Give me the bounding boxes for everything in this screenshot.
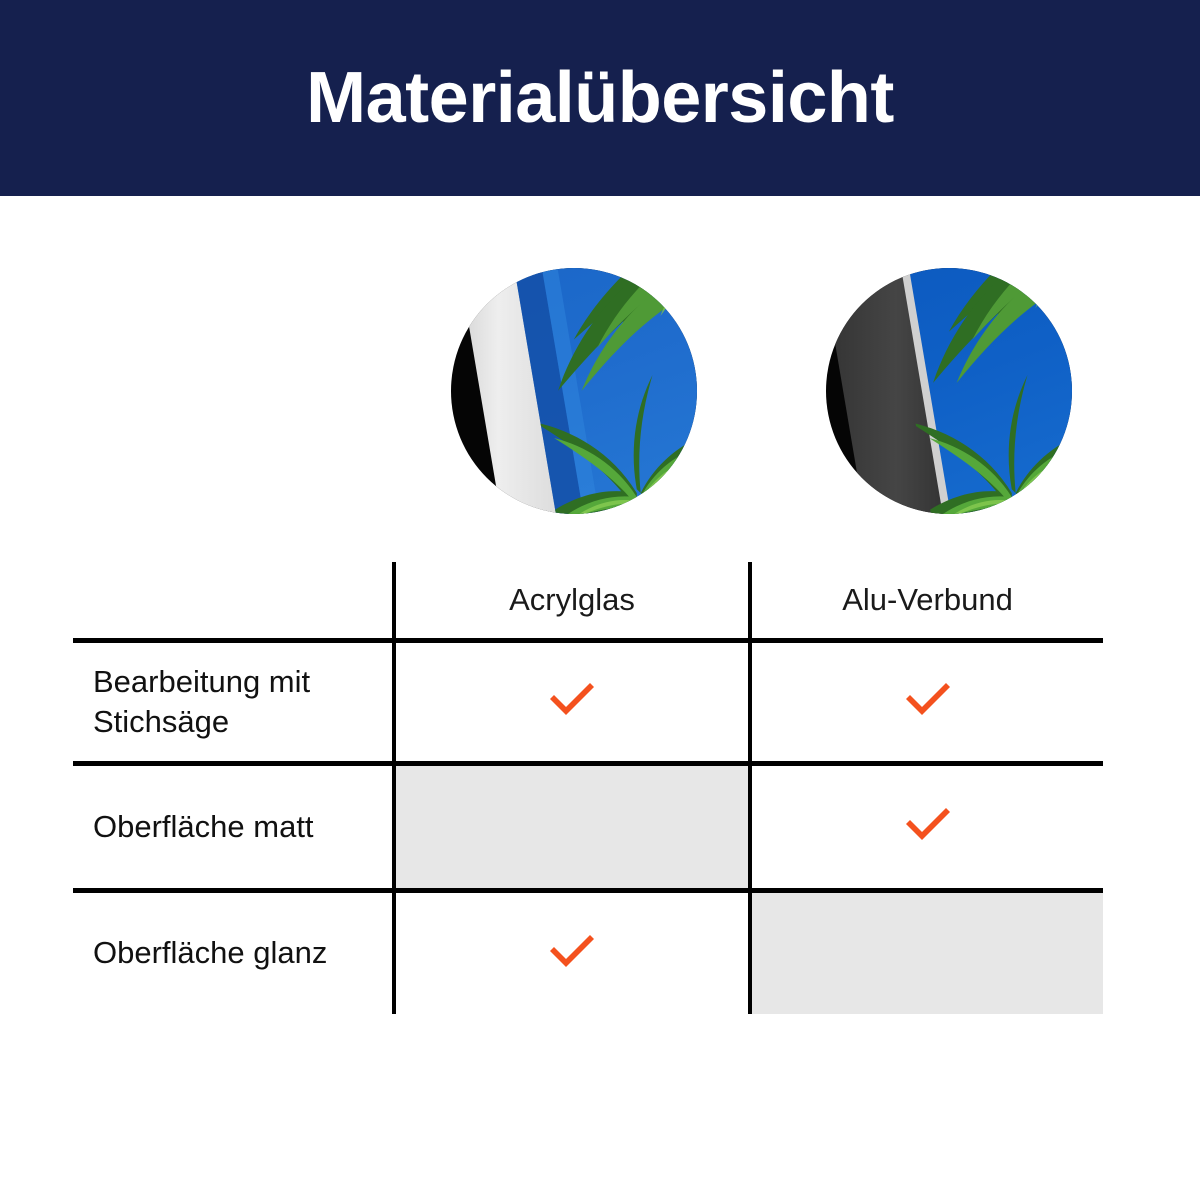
page-title: Materialübersicht [306,62,894,134]
material-comparison-table: Acrylglas Alu-Verbund Bearbeitung mit St… [73,562,1103,1014]
table-row: Oberfläche glanz [73,890,1103,1014]
column-header-alu-verbund: Alu-Verbund [750,562,1103,640]
table-head: Acrylglas Alu-Verbund [73,562,1103,640]
alu-verbund-product-photo [826,268,1072,514]
material-overview-page: Materialübersicht [0,0,1200,1200]
table-row: Bearbeitung mit Stichsäge [73,640,1103,763]
cell-bearbeitung-acrylglas [394,640,750,763]
check-icon [900,803,956,845]
acrylglas-product-photo [451,268,697,514]
cell-oberflaeche-glanz-acrylglas [394,890,750,1014]
cell-oberflaeche-matt-acrylglas [394,763,750,890]
table-corner-cell [73,562,394,640]
table-body: Bearbeitung mit Stichsäge [73,640,1103,1014]
column-header-acrylglas: Acrylglas [394,562,750,640]
alu-verbund-thumbnail[interactable] [826,268,1072,514]
check-icon [544,930,600,972]
check-icon [900,678,956,720]
header-banner: Materialübersicht [0,0,1200,196]
cell-oberflaeche-matt-alu-verbund [750,763,1103,890]
row-label-oberflaeche-matt: Oberfläche matt [73,763,394,890]
acrylglas-thumbnail[interactable] [451,268,697,514]
check-icon [544,678,600,720]
table-header-row: Acrylglas Alu-Verbund [73,562,1103,640]
row-label-oberflaeche-glanz: Oberfläche glanz [73,890,394,1014]
cell-bearbeitung-alu-verbund [750,640,1103,763]
table-row: Oberfläche matt [73,763,1103,890]
row-label-bearbeitung-mit-stichsaege: Bearbeitung mit Stichsäge [73,640,394,763]
material-comparison-table-wrapper: Acrylglas Alu-Verbund Bearbeitung mit St… [73,562,1103,1014]
thumbnail-row [0,268,1200,514]
cell-oberflaeche-glanz-alu-verbund [750,890,1103,1014]
